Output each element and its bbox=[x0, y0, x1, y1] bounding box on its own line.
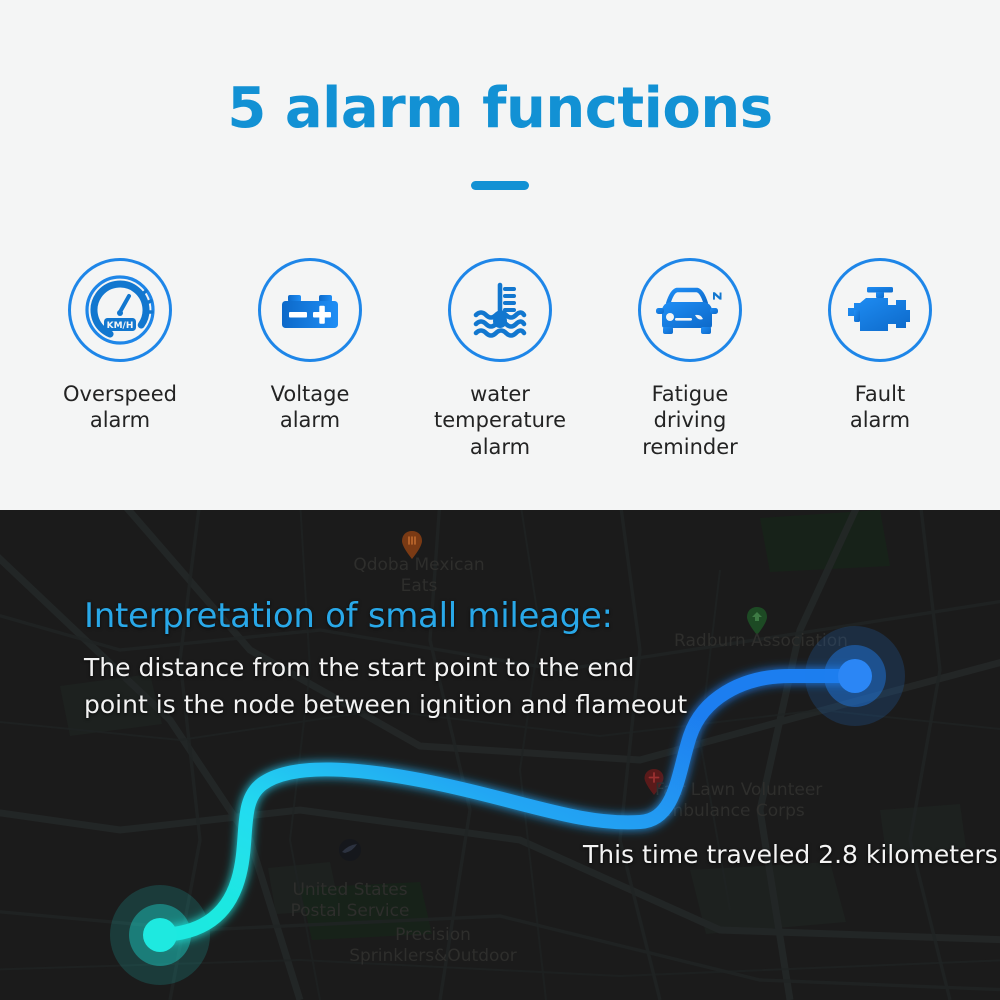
feature-label: Overspeed alarm bbox=[63, 381, 177, 434]
feature-icon-frame bbox=[448, 258, 552, 362]
feature-label: water temperature alarm bbox=[434, 381, 566, 460]
feature-item-overspeed[interactable]: KM/H Overspeed alarm bbox=[30, 258, 210, 434]
sleep-z-glyph: z bbox=[709, 292, 727, 301]
feature-icon-frame bbox=[828, 258, 932, 362]
battery-icon bbox=[272, 272, 348, 348]
route-end-marker[interactable] bbox=[805, 626, 905, 726]
feature-item-fault[interactable]: Fault alarm bbox=[790, 258, 970, 434]
alarm-functions-section: 5 alarm functions KM/H bbox=[0, 0, 1000, 510]
feature-item-water-temperature[interactable]: water temperature alarm bbox=[410, 258, 590, 460]
feature-label: Voltage alarm bbox=[271, 381, 350, 434]
sleepy-car-icon: z bbox=[650, 272, 730, 348]
promo-page: 5 alarm functions KM/H bbox=[0, 0, 1000, 1000]
page-title: 5 alarm functions bbox=[0, 76, 1000, 141]
feature-item-voltage[interactable]: Voltage alarm bbox=[220, 258, 400, 434]
feature-icon-frame bbox=[258, 258, 362, 362]
mileage-heading: Interpretation of small mileage: bbox=[84, 596, 613, 636]
mileage-description: The distance from the start point to the… bbox=[84, 650, 687, 723]
speedometer-icon: KM/H bbox=[82, 272, 158, 348]
feature-list: KM/H Overspeed alarm bbox=[0, 258, 1000, 460]
distance-traveled-text: This time traveled 2.8 kilometers bbox=[583, 840, 998, 869]
water-temperature-icon bbox=[462, 272, 538, 348]
feature-icon-frame: KM/H bbox=[68, 258, 172, 362]
feature-item-fatigue-driving[interactable]: z Fatigue driving reminder bbox=[600, 258, 780, 460]
feature-label: Fatigue driving reminder bbox=[642, 381, 738, 460]
gauge-unit-text: KM/H bbox=[107, 321, 134, 331]
engine-icon bbox=[842, 272, 918, 348]
mileage-map-section: Qdoba Mexican Eats Radburn Association F… bbox=[0, 510, 1000, 1000]
title-underline-bar bbox=[471, 181, 529, 190]
feature-icon-frame: z bbox=[638, 258, 742, 362]
feature-label: Fault alarm bbox=[850, 381, 910, 434]
route-start-marker[interactable] bbox=[110, 885, 210, 985]
